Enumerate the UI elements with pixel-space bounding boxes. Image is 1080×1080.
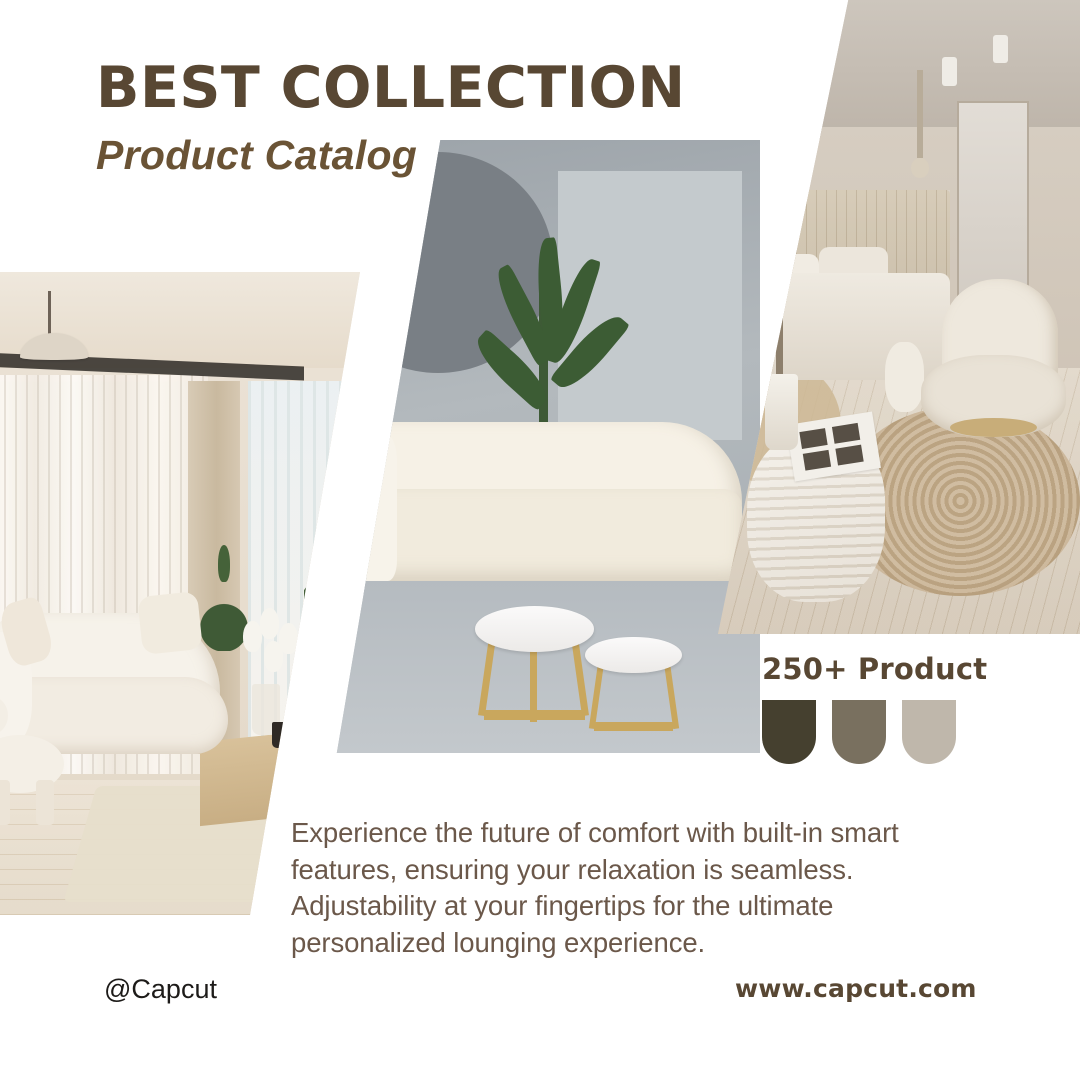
wooden-bowl [292, 677, 340, 703]
marble-side-table [585, 637, 682, 674]
photo-panel-studio-sofa [300, 140, 760, 753]
page-subtitle: Product Catalog [96, 135, 686, 176]
photo-panel-bedroom [718, 0, 1080, 634]
color-swatch-dark-olive-brown[interactable] [762, 700, 816, 764]
color-swatch-taupe-grey[interactable] [832, 700, 886, 764]
pendant-light [917, 70, 922, 159]
wooden-bench [200, 728, 336, 826]
product-highlight: 250+ Product [762, 652, 987, 764]
ceiling-spotlight [993, 35, 1007, 64]
ceramic-vase [765, 374, 798, 450]
studio-sofa-scene [300, 140, 760, 753]
product-count-label: 250+ Product [762, 652, 987, 686]
website-url[interactable]: www.capcut.com [735, 974, 977, 1003]
social-handle: @Capcut [104, 974, 217, 1005]
poster-canvas: BEST COLLECTION Product Catalog [0, 0, 1080, 1080]
body-copy: Experience the future of comfort with bu… [291, 815, 963, 961]
color-swatch-list [762, 700, 987, 764]
potted-plant-secondary [304, 555, 348, 639]
throw-pillow [137, 591, 203, 655]
page-title: BEST COLLECTION [96, 60, 686, 117]
ceiling-spotlight [942, 57, 956, 86]
marble-coffee-table [475, 606, 595, 652]
color-swatch-light-beige-grey[interactable] [902, 700, 956, 764]
black-cup [272, 722, 292, 748]
bedroom-scene [718, 0, 1080, 634]
header-block: BEST COLLECTION Product Catalog [96, 60, 686, 176]
small-pouf [885, 342, 925, 412]
wall-circle-decor [323, 152, 553, 373]
